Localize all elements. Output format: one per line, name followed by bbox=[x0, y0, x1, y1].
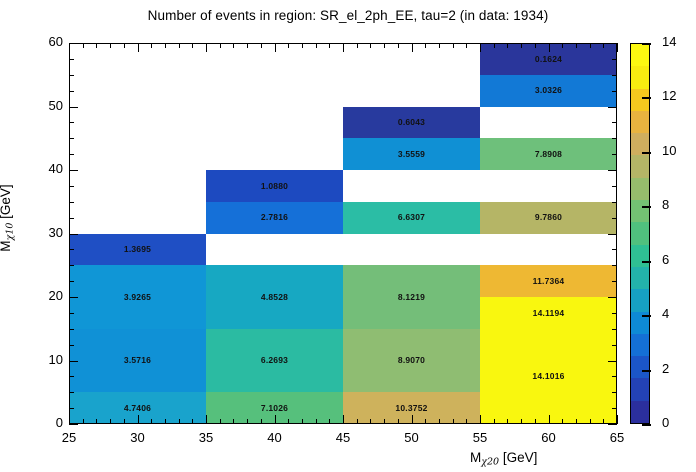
x-axis-tick-label: 45 bbox=[323, 430, 363, 445]
x-axis-tick-top bbox=[384, 43, 385, 48]
x-axis-tick-top bbox=[151, 43, 152, 48]
y-axis-tick-right bbox=[608, 170, 617, 171]
x-axis-tick bbox=[617, 415, 618, 424]
x-axis-tick-top bbox=[96, 43, 97, 48]
x-axis-tick-label: 40 bbox=[255, 430, 295, 445]
x-axis-tick-top bbox=[302, 43, 303, 48]
colorbar-tick-label: 8 bbox=[662, 197, 669, 212]
colorbar-segment bbox=[631, 154, 649, 178]
y-axis-tick bbox=[69, 202, 74, 203]
heatmap-cell-value: 2.7816 bbox=[261, 213, 288, 222]
y-axis-tick-label: 20 bbox=[23, 288, 63, 303]
y-axis-tick-label: 50 bbox=[23, 98, 63, 113]
x-axis-tick-top bbox=[466, 43, 467, 48]
y-axis-tick-right bbox=[612, 186, 617, 187]
colorbar-segment bbox=[631, 109, 649, 133]
heatmap-cell-value: 6.2693 bbox=[261, 356, 288, 365]
y-axis-tick bbox=[69, 218, 74, 219]
y-axis-tick bbox=[69, 234, 78, 235]
y-axis-tick-right bbox=[608, 107, 617, 108]
colorbar-segment bbox=[631, 221, 649, 245]
colorbar-segment bbox=[631, 198, 649, 222]
y-axis-tick-right bbox=[612, 376, 617, 377]
colorbar-segment bbox=[631, 288, 649, 312]
x-axis-tick-top bbox=[507, 43, 508, 48]
x-axis-tick bbox=[398, 419, 399, 424]
heatmap-cell-value: 14.1016 bbox=[532, 372, 564, 381]
x-axis-tick-top bbox=[220, 43, 221, 48]
page-title: Number of events in region: SR_el_2ph_EE… bbox=[0, 8, 696, 23]
heatmap-cell: 8.9070 bbox=[343, 329, 480, 393]
colorbar-tick-label: 0 bbox=[662, 415, 669, 430]
x-axis-tick bbox=[233, 419, 234, 424]
x-axis-tick-top bbox=[110, 43, 111, 48]
colorbar-tick bbox=[642, 261, 651, 263]
x-axis-tick-top bbox=[343, 43, 344, 52]
heatmap-cell: 11.7364 bbox=[480, 265, 617, 297]
heatmap-cell-value: 3.5716 bbox=[124, 356, 151, 365]
x-axis-tick bbox=[275, 415, 276, 424]
x-axis-tick-top bbox=[261, 43, 262, 48]
x-axis-tick-top bbox=[124, 43, 125, 48]
x-axis-tick bbox=[343, 415, 344, 424]
heatmap-cell-value: 7.1026 bbox=[261, 404, 288, 413]
colorbar-tick bbox=[642, 370, 651, 372]
colorbar-tick bbox=[642, 152, 651, 154]
x-axis-tick-top bbox=[425, 43, 426, 48]
x-axis-tick bbox=[521, 419, 522, 424]
heatmap-cell-value: 3.0326 bbox=[535, 86, 562, 95]
colorbar-segment bbox=[631, 65, 649, 89]
heatmap-cell: 2.7816 bbox=[206, 202, 343, 234]
heatmap-cell-value: 4.8528 bbox=[261, 293, 288, 302]
colorbar-tick-label: 14 bbox=[662, 34, 676, 49]
y-axis-title: Mχ10 [GeV] bbox=[0, 148, 16, 288]
y-axis-tick bbox=[69, 138, 74, 139]
y-axis-tick-label: 0 bbox=[23, 415, 63, 430]
heatmap-cell: 6.2693 bbox=[206, 329, 343, 393]
y-axis-tick-label: 10 bbox=[23, 352, 63, 367]
x-axis-title-sub: χ20 bbox=[481, 457, 499, 468]
y-axis-tick-right bbox=[608, 424, 617, 425]
root-canvas: Number of events in region: SR_el_2ph_EE… bbox=[0, 0, 696, 472]
y-axis-tick bbox=[69, 345, 74, 346]
colorbar-segment bbox=[631, 310, 649, 334]
x-axis-tick bbox=[357, 419, 358, 424]
heatmap-plot-area: 4.74063.57163.92651.36957.10266.26934.85… bbox=[69, 43, 617, 424]
x-axis-tick-top bbox=[439, 43, 440, 48]
x-axis-tick bbox=[412, 415, 413, 424]
heatmap-cell: 8.1219 bbox=[343, 265, 480, 329]
colorbar-tick-label: 4 bbox=[662, 306, 669, 321]
x-axis-tick-label: 50 bbox=[392, 430, 432, 445]
y-axis-title-sub: χ10 bbox=[5, 223, 16, 241]
x-axis-tick-top bbox=[316, 43, 317, 48]
y-axis-tick-right bbox=[612, 313, 617, 314]
x-axis-tick bbox=[110, 419, 111, 424]
colorbar-segment bbox=[631, 176, 649, 200]
x-axis-tick bbox=[316, 419, 317, 424]
x-axis-tick bbox=[179, 419, 180, 424]
x-axis-tick bbox=[165, 419, 166, 424]
y-axis-tick-right bbox=[612, 75, 617, 76]
y-axis-tick bbox=[69, 154, 74, 155]
x-axis-tick-label: 55 bbox=[460, 430, 500, 445]
colorbar bbox=[630, 43, 650, 424]
heatmap-cell: 14.1194 bbox=[480, 297, 617, 329]
x-axis-tick-top bbox=[357, 43, 358, 48]
y-axis-tick-right bbox=[612, 91, 617, 92]
y-axis-tick-right bbox=[612, 154, 617, 155]
x-axis-tick bbox=[603, 419, 604, 424]
y-axis-tick-right bbox=[608, 361, 617, 362]
x-axis-tick bbox=[466, 419, 467, 424]
y-axis-tick-right bbox=[612, 329, 617, 330]
x-axis-tick-top bbox=[480, 43, 481, 52]
y-axis-tick bbox=[69, 361, 78, 362]
x-axis-tick-top bbox=[165, 43, 166, 48]
x-axis-tick bbox=[288, 419, 289, 424]
y-axis-tick-right bbox=[612, 345, 617, 346]
y-axis-tick bbox=[69, 297, 78, 298]
x-axis-tick bbox=[494, 419, 495, 424]
heatmap-cell: 3.5716 bbox=[69, 329, 206, 393]
x-axis-tick-top bbox=[576, 43, 577, 48]
x-axis-tick bbox=[480, 415, 481, 424]
colorbar-segment bbox=[631, 265, 649, 289]
x-axis-title-unit: [GeV] bbox=[499, 450, 537, 465]
x-axis-tick-label: 65 bbox=[597, 430, 637, 445]
y-axis-tick-right bbox=[612, 59, 617, 60]
heatmap-cell: 1.0880 bbox=[206, 170, 343, 202]
y-axis-tick-right bbox=[612, 408, 617, 409]
heatmap-cell-value: 8.9070 bbox=[398, 356, 425, 365]
colorbar-tick bbox=[642, 43, 651, 45]
colorbar-tick-label: 12 bbox=[662, 88, 676, 103]
y-axis-title-unit: [GeV] bbox=[0, 184, 13, 222]
y-axis-tick bbox=[69, 249, 74, 250]
x-axis-tick-top bbox=[179, 43, 180, 48]
x-axis-tick-top bbox=[617, 43, 618, 52]
x-axis-tick bbox=[549, 415, 550, 424]
x-axis-tick bbox=[138, 415, 139, 424]
x-axis-tick bbox=[329, 419, 330, 424]
y-axis-tick bbox=[69, 170, 78, 171]
y-axis-tick-right bbox=[612, 138, 617, 139]
y-axis-tick bbox=[69, 392, 74, 393]
heatmap-cell-value: 0.6043 bbox=[398, 118, 425, 127]
colorbar-labels: 02468101214 bbox=[652, 43, 692, 424]
y-axis-tick-right bbox=[612, 265, 617, 266]
x-axis-tick bbox=[590, 419, 591, 424]
y-axis-tick bbox=[69, 91, 74, 92]
x-axis-tick bbox=[535, 419, 536, 424]
x-axis-tick bbox=[192, 419, 193, 424]
heatmap-cell-value: 10.3752 bbox=[395, 404, 427, 413]
x-axis-tick bbox=[384, 419, 385, 424]
heatmap-cell: 9.7860 bbox=[480, 202, 617, 234]
x-axis-tick bbox=[370, 419, 371, 424]
x-axis-tick-top bbox=[603, 43, 604, 48]
x-axis-tick-top bbox=[288, 43, 289, 48]
colorbar-segment bbox=[631, 354, 649, 378]
y-axis-tick-right bbox=[612, 281, 617, 282]
x-axis-tick-top bbox=[549, 43, 550, 52]
heatmap-cell-value: 3.5559 bbox=[398, 150, 425, 159]
heatmap-cell: 7.8908 bbox=[480, 138, 617, 170]
y-axis-tick-right bbox=[612, 122, 617, 123]
x-axis-tick-top bbox=[370, 43, 371, 48]
y-axis-tick-right bbox=[612, 218, 617, 219]
heatmap-cell-value: 6.6307 bbox=[398, 213, 425, 222]
colorbar-segment bbox=[631, 243, 649, 267]
x-axis-tick-top bbox=[83, 43, 84, 48]
x-axis-tick-top bbox=[247, 43, 248, 48]
y-axis-tick bbox=[69, 186, 74, 187]
colorbar-tick-label: 2 bbox=[662, 361, 669, 376]
heatmap-cell: 3.0326 bbox=[480, 75, 617, 107]
x-axis-tick bbox=[453, 419, 454, 424]
x-axis-tick bbox=[302, 419, 303, 424]
x-axis-tick-top bbox=[521, 43, 522, 48]
heatmap-cell: 4.8528 bbox=[206, 265, 343, 329]
x-axis-tick bbox=[124, 419, 125, 424]
y-axis-tick bbox=[69, 43, 78, 44]
x-axis-tick bbox=[151, 419, 152, 424]
x-axis-tick-top bbox=[398, 43, 399, 48]
heatmap-cell: 1.3695 bbox=[69, 234, 206, 266]
y-axis-tick-right bbox=[608, 43, 617, 44]
y-axis-title-main: M bbox=[0, 240, 13, 251]
x-axis-tick-top bbox=[233, 43, 234, 48]
y-axis-tick-label: 40 bbox=[23, 161, 63, 176]
x-axis-tick-top bbox=[69, 43, 70, 52]
x-axis-tick-top bbox=[590, 43, 591, 48]
heatmap-cell-value: 11.7364 bbox=[533, 277, 565, 286]
y-axis-tick bbox=[69, 329, 74, 330]
colorbar-segment bbox=[631, 377, 649, 401]
x-axis-tick-top bbox=[562, 43, 563, 48]
colorbar-tick-label: 6 bbox=[662, 252, 669, 267]
heatmap-cell-value: 9.7860 bbox=[535, 213, 562, 222]
x-axis-tick bbox=[562, 419, 563, 424]
x-axis-tick-top bbox=[412, 43, 413, 52]
heatmap-cell-value: 3.9265 bbox=[124, 293, 151, 302]
y-axis-tick-right bbox=[612, 202, 617, 203]
x-axis-tick bbox=[206, 415, 207, 424]
heatmap-cell-value: 1.0880 bbox=[261, 182, 288, 191]
y-axis-tick-right bbox=[608, 297, 617, 298]
x-axis-tick-top bbox=[494, 43, 495, 48]
y-axis-tick bbox=[69, 313, 74, 314]
x-axis-tick-label: 35 bbox=[186, 430, 226, 445]
colorbar-segment bbox=[631, 399, 649, 423]
x-axis-tick-label: 25 bbox=[49, 430, 89, 445]
heatmap-cell: 6.6307 bbox=[343, 202, 480, 234]
colorbar-segment bbox=[631, 43, 649, 66]
x-axis-tick-top bbox=[453, 43, 454, 48]
x-axis-tick bbox=[69, 415, 70, 424]
heatmap-cell-value: 4.7406 bbox=[124, 404, 151, 413]
heatmap-cell-value: 8.1219 bbox=[398, 293, 425, 302]
colorbar-tick bbox=[642, 424, 651, 426]
y-axis-tick-right bbox=[608, 234, 617, 235]
x-axis-tick bbox=[507, 419, 508, 424]
x-axis-tick bbox=[220, 419, 221, 424]
x-axis-tick bbox=[247, 419, 248, 424]
x-axis-tick bbox=[83, 419, 84, 424]
heatmap-cell-value: 0.1624 bbox=[535, 55, 562, 64]
y-axis-tick-label: 60 bbox=[23, 34, 63, 49]
y-axis-tick bbox=[69, 376, 74, 377]
x-axis-tick-label: 30 bbox=[118, 430, 158, 445]
x-axis-tick-top bbox=[138, 43, 139, 52]
x-axis-tick bbox=[439, 419, 440, 424]
y-axis-tick bbox=[69, 75, 74, 76]
heatmap-cell-value: 1.3695 bbox=[124, 245, 151, 254]
colorbar-tick bbox=[642, 97, 651, 99]
x-axis-tick bbox=[261, 419, 262, 424]
x-axis-tick-top bbox=[329, 43, 330, 48]
y-axis-tick-right bbox=[612, 249, 617, 250]
y-axis-tick bbox=[69, 424, 78, 425]
x-axis-tick-label: 60 bbox=[529, 430, 569, 445]
x-axis-title-main: M bbox=[470, 450, 481, 465]
x-axis-tick-top bbox=[206, 43, 207, 52]
colorbar-segment bbox=[631, 332, 649, 356]
y-axis-tick bbox=[69, 107, 78, 108]
y-axis-tick bbox=[69, 281, 74, 282]
x-axis-tick-top bbox=[535, 43, 536, 48]
y-axis-tick-label: 30 bbox=[23, 225, 63, 240]
y-axis-tick-right bbox=[612, 392, 617, 393]
heatmap-cell-value: 7.8908 bbox=[535, 150, 562, 159]
y-axis-tick bbox=[69, 265, 74, 266]
y-axis-tick bbox=[69, 122, 74, 123]
x-axis-tick-top bbox=[275, 43, 276, 52]
colorbar-tick bbox=[642, 206, 651, 208]
heatmap-cell: 14.1016 bbox=[480, 329, 617, 424]
heatmap-cell: 0.6043 bbox=[343, 107, 480, 139]
heatmap-cell-value: 14.1194 bbox=[533, 309, 565, 318]
x-axis-tick bbox=[96, 419, 97, 424]
colorbar-tick bbox=[642, 315, 651, 317]
heatmap-cell: 3.9265 bbox=[69, 265, 206, 329]
x-axis-tick-top bbox=[192, 43, 193, 48]
x-axis-tick bbox=[576, 419, 577, 424]
heatmap-cell: 3.5559 bbox=[343, 138, 480, 170]
x-axis-title: Mχ20 [GeV] bbox=[470, 450, 537, 468]
y-axis-tick bbox=[69, 408, 74, 409]
x-axis-tick bbox=[425, 419, 426, 424]
colorbar-tick-label: 10 bbox=[662, 143, 676, 158]
y-axis-tick bbox=[69, 59, 74, 60]
